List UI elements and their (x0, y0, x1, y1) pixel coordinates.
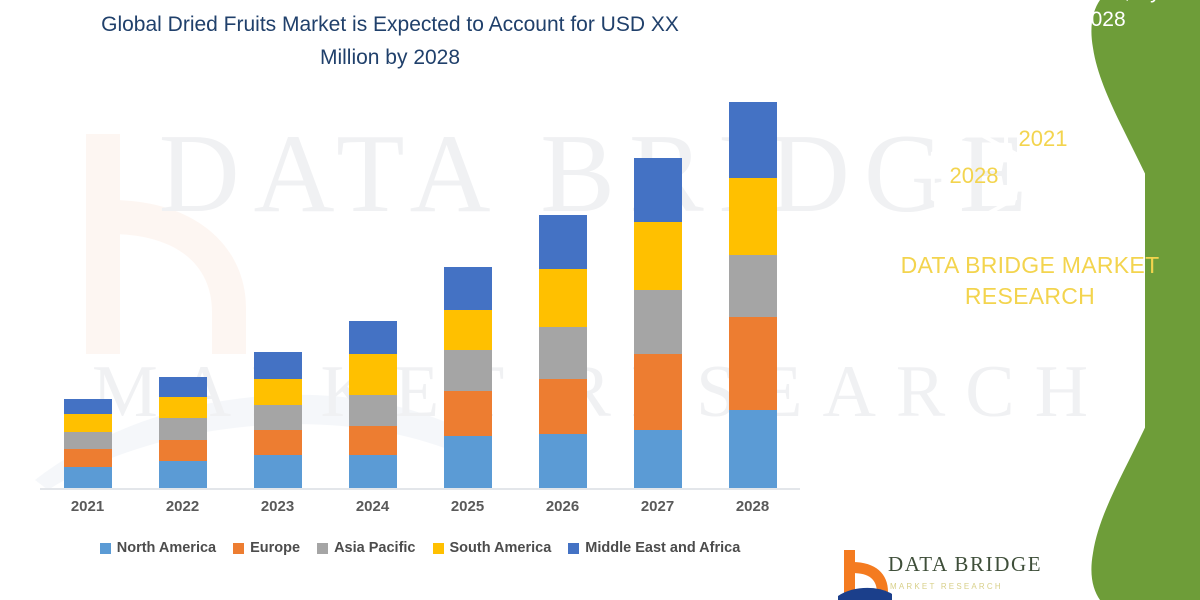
bar-slot (705, 100, 800, 488)
legend-item[interactable]: North America (100, 540, 216, 556)
bar-segment[interactable] (64, 432, 112, 449)
bar-segment[interactable] (159, 440, 207, 461)
bar-segment[interactable] (539, 215, 587, 269)
x-axis-line (40, 488, 800, 490)
legend-item[interactable]: Europe (233, 540, 300, 556)
bar-segment[interactable] (64, 467, 112, 488)
bar-slot (420, 100, 515, 488)
bar-segment[interactable] (349, 354, 397, 395)
bar-segment[interactable] (64, 399, 112, 415)
legend-label: Asia Pacific (334, 540, 415, 556)
x-tick-2023: 2023 (230, 498, 325, 515)
legend-label: North America (117, 540, 216, 556)
bar-segment[interactable] (444, 436, 492, 488)
bar-segment[interactable] (539, 269, 587, 327)
hexagon-2021-label: 2021 (999, 95, 1087, 183)
bar-segment[interactable] (254, 405, 302, 430)
panel-brand-line-2: RESEARCH (880, 281, 1180, 312)
chart-plot-area (40, 100, 800, 490)
bar-segment[interactable] (159, 377, 207, 396)
panel-heading: Global Dried Fruits Market, By Regions, … (850, 0, 1190, 34)
x-tick-2022: 2022 (135, 498, 230, 515)
bar-segment[interactable] (349, 321, 397, 354)
bar-segment[interactable] (64, 414, 112, 431)
panel-brand-text: DATA BRIDGE MARKET RESEARCH (880, 250, 1180, 312)
hexagon-2021: 2021 (999, 95, 1087, 183)
bar-segment[interactable] (159, 418, 207, 439)
bar-segment[interactable] (254, 379, 302, 404)
x-tick-2025: 2025 (420, 498, 515, 515)
bar-segment[interactable] (634, 354, 682, 430)
stacked-bar-2027[interactable] (634, 158, 682, 488)
chart-title: Global Dried Fruits Market is Expected t… (60, 8, 720, 74)
x-tick-2026: 2026 (515, 498, 610, 515)
stacked-bar-2028[interactable] (729, 102, 777, 488)
hexagon-group: 2028 2021 (925, 95, 1115, 225)
legend-swatch-icon (433, 543, 444, 554)
legend-item[interactable]: South America (433, 540, 552, 556)
bar-segment[interactable] (729, 102, 777, 178)
bar-segment[interactable] (254, 455, 302, 488)
bar-segment[interactable] (634, 430, 682, 488)
legend-item[interactable]: Asia Pacific (317, 540, 415, 556)
stacked-bar-2024[interactable] (349, 321, 397, 488)
data-bridge-logo: DATA BRIDGE MARKET RESEARCH (838, 548, 1098, 600)
legend-swatch-icon (233, 543, 244, 554)
legend-label: Middle East and Africa (585, 540, 740, 556)
logo-name: DATA BRIDGE (888, 552, 1042, 577)
infographic-canvas: DATA BRIDGE MARKET RESEARCH Global Dried… (0, 0, 1200, 600)
legend-label: Europe (250, 540, 300, 556)
chart-legend: North AmericaEuropeAsia PacificSouth Ame… (40, 540, 800, 556)
logo-tagline: MARKET RESEARCH (890, 582, 1003, 591)
bar-segment[interactable] (634, 158, 682, 222)
bar-segment[interactable] (159, 461, 207, 488)
x-axis-tick-labels: 20212022202320242025202620272028 (40, 498, 800, 515)
x-tick-2021: 2021 (40, 498, 135, 515)
bar-segment[interactable] (444, 310, 492, 351)
legend-swatch-icon (568, 543, 579, 554)
stacked-bar-2022[interactable] (159, 377, 207, 488)
stacked-bar-2023[interactable] (254, 352, 302, 488)
stacked-bar-2025[interactable] (444, 267, 492, 488)
bar-slot (515, 100, 610, 488)
bar-segment[interactable] (634, 222, 682, 290)
stacked-bar-2026[interactable] (539, 215, 587, 489)
chart-title-line-1: Global Dried Fruits Market is Expected t… (60, 8, 720, 41)
legend-swatch-icon (317, 543, 328, 554)
bar-segment[interactable] (539, 327, 587, 379)
bar-segment[interactable] (349, 455, 397, 488)
x-tick-2028: 2028 (705, 498, 800, 515)
panel-heading-line-2: Regions, 2021 to 2028 (850, 6, 1190, 34)
bar-segment[interactable] (634, 290, 682, 354)
bar-series-container (40, 100, 800, 488)
bar-segment[interactable] (64, 449, 112, 466)
bar-segment[interactable] (729, 255, 777, 317)
bar-segment[interactable] (729, 317, 777, 410)
stacked-bar-2021[interactable] (64, 399, 112, 488)
bar-slot (135, 100, 230, 488)
panel-brand-line-1: DATA BRIDGE MARKET (880, 250, 1180, 281)
chart-title-line-2: Million by 2028 (60, 41, 720, 74)
bar-slot (610, 100, 705, 488)
bar-segment[interactable] (254, 352, 302, 379)
bar-segment[interactable] (729, 410, 777, 488)
bar-segment[interactable] (444, 267, 492, 310)
legend-swatch-icon (100, 543, 111, 554)
legend-item[interactable]: Middle East and Africa (568, 540, 740, 556)
bar-segment[interactable] (539, 434, 587, 488)
bar-slot (325, 100, 420, 488)
x-tick-2024: 2024 (325, 498, 420, 515)
bar-slot (40, 100, 135, 488)
bar-segment[interactable] (729, 178, 777, 256)
bar-segment[interactable] (254, 430, 302, 455)
bar-segment[interactable] (444, 391, 492, 436)
x-tick-2027: 2027 (610, 498, 705, 515)
bar-segment[interactable] (444, 350, 492, 391)
bar-segment[interactable] (349, 426, 397, 455)
legend-label: South America (450, 540, 552, 556)
bar-slot (230, 100, 325, 488)
bar-segment[interactable] (539, 379, 587, 433)
bridge-logo-mark-icon (838, 548, 892, 600)
bar-segment[interactable] (159, 397, 207, 418)
bar-segment[interactable] (349, 395, 397, 426)
